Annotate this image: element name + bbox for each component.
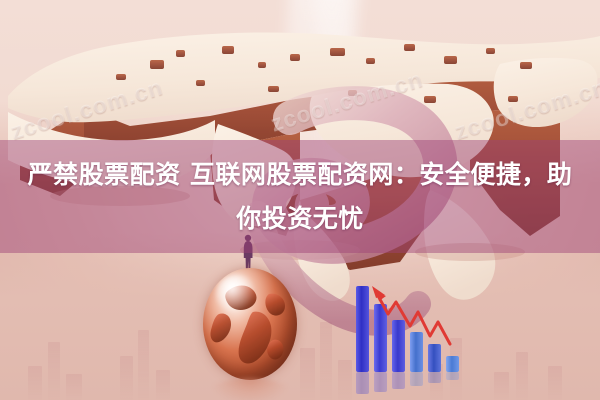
headline-overlay-band: 严禁股票配资 互联网股票配资网：安全便捷，助你投资无忧 (0, 140, 600, 253)
metallic-globe (197, 268, 303, 400)
stock-banner-image: zcool.com.cn zcool.com.cn zcool.com.cn (0, 0, 600, 400)
declining-bar-chart (352, 282, 472, 400)
page-title: 严禁股票配资 互联网股票配资网：安全便捷，助你投资无忧 (18, 153, 582, 241)
globe-sphere (203, 268, 297, 380)
globe-highlight (216, 275, 255, 313)
globe-reflection (211, 378, 289, 400)
